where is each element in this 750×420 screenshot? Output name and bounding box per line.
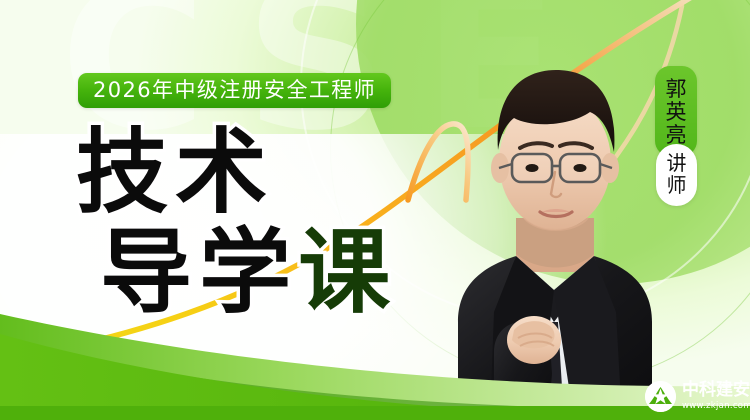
instructor-role-badge: 讲 师 <box>656 144 697 206</box>
instructor-name-char: 英 <box>666 101 687 123</box>
instructor-name-char: 亮 <box>666 124 687 146</box>
title-char: 技 <box>76 130 170 216</box>
brand-logo: 中科建安 www.zkjan.com <box>645 381 750 412</box>
instructor-role-char: 师 <box>667 175 687 197</box>
page-title: 技 术 导 学 课 <box>72 130 432 317</box>
instructor-name-badge: 郭 英 亮 <box>655 66 697 156</box>
title-char-accent: 课 <box>298 230 392 316</box>
instructor-role-char: 讲 <box>667 153 687 175</box>
head <box>491 70 619 230</box>
course-poster: CSE <box>0 0 750 420</box>
title-line-2: 导 学 课 <box>100 230 432 316</box>
title-char: 学 <box>199 230 293 316</box>
brand-name: 中科建安 <box>682 382 750 400</box>
instructor-name-char: 郭 <box>666 78 687 100</box>
mountain-star-icon <box>645 381 676 412</box>
title-line-1: 技 术 <box>76 130 432 216</box>
brand-url: www.zkjan.com <box>682 401 750 411</box>
course-tag-label: 2026年中级注册安全工程师 <box>93 80 376 101</box>
course-tag-badge: 2026年中级注册安全工程师 <box>78 73 391 108</box>
title-char: 导 <box>100 230 194 316</box>
logo-text-block: 中科建安 www.zkjan.com <box>682 382 750 411</box>
title-char: 术 <box>175 130 269 216</box>
